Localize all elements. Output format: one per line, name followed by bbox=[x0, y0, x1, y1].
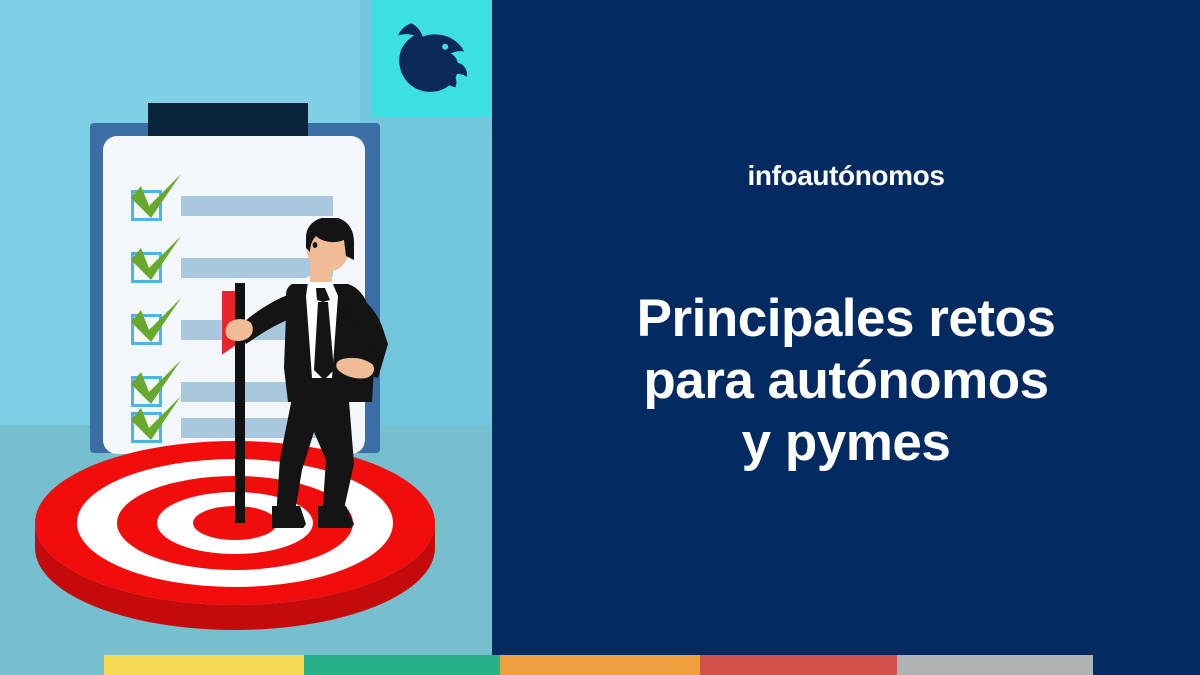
content-panel: infoautónomos Principales retos para aut… bbox=[492, 0, 1200, 675]
color-bar bbox=[0, 655, 1200, 675]
color-bar-segment-gray bbox=[897, 655, 1093, 675]
checkmark-icon bbox=[127, 298, 185, 348]
businessman-figure bbox=[222, 218, 407, 528]
color-bar-segment-orange bbox=[500, 655, 700, 675]
checkmark-icon bbox=[127, 236, 185, 286]
headline-line-2: para autónomos bbox=[492, 350, 1200, 412]
checklist-line bbox=[181, 196, 333, 216]
headline-line-1: Principales retos bbox=[492, 288, 1200, 350]
color-bar-segment-red bbox=[700, 655, 897, 675]
checkmark-icon bbox=[127, 174, 185, 224]
headline-line-3: y pymes bbox=[492, 412, 1200, 474]
promo-banner: infoautónomos Principales retos para aut… bbox=[0, 0, 1200, 675]
clipboard-clip bbox=[148, 103, 308, 136]
color-bar-segment-yellow bbox=[104, 655, 304, 675]
dolphin-icon bbox=[384, 12, 480, 106]
page-title: Principales retos para autónomos y pymes bbox=[492, 288, 1200, 474]
color-bar-segment-green bbox=[304, 655, 500, 675]
illustration-panel bbox=[0, 0, 492, 675]
brand-name: infoautónomos bbox=[492, 160, 1200, 192]
